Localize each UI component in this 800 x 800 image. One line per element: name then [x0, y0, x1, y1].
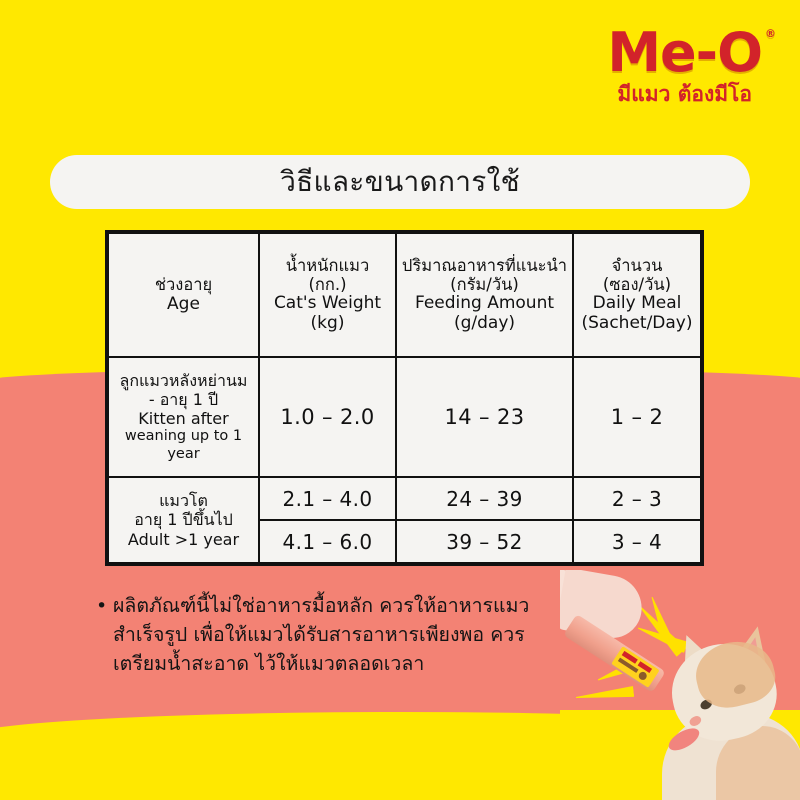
- cell-weight-kitten: 1.0 – 2.0: [259, 357, 396, 477]
- header-cell-weight: น้ำหนักแมว (กก.) Cat's Weight (kg): [259, 233, 396, 357]
- logo-wordmark-text: Me-O: [607, 21, 762, 84]
- usage-note: • ผลิตภัณฑ์นี้ไม่ใช่อาหารมื้อหลัก ควรให้…: [96, 592, 566, 679]
- table-row-adult-small: แมวโต อายุ 1 ปีขึ้นไป Adult >1 year 2.1 …: [108, 477, 701, 520]
- header-meals-th-unit: (ซอง/วัน): [577, 275, 697, 294]
- header-meals-en-unit: (Sachet/Day): [577, 314, 697, 334]
- usage-note-text: ผลิตภัณฑ์นี้ไม่ใช่อาหารมื้อหลัก ควรให้อา…: [113, 592, 566, 679]
- cell-meals-adult-small: 2 – 3: [573, 477, 701, 520]
- cell-meals-adult-large: 3 – 4: [573, 520, 701, 563]
- header-age-th: ช่วงอายุ: [112, 275, 255, 294]
- header-cell-meals: จำนวน (ซอง/วัน) Daily Meal (Sachet/Day): [573, 233, 701, 357]
- header-weight-en-unit: (kg): [263, 314, 392, 334]
- header-weight-en: Cat's Weight: [263, 294, 392, 314]
- cell-amount-kitten: 14 – 23: [396, 357, 573, 477]
- product-photo: [560, 570, 800, 800]
- cell-amount-adult-large: 39 – 52: [396, 520, 573, 563]
- registered-trademark-icon: ®: [765, 28, 775, 39]
- cell-weight-adult-small: 2.1 – 4.0: [259, 477, 396, 520]
- header-cell-age: ช่วงอายุ Age: [108, 233, 259, 357]
- header-meals-en: Daily Meal: [577, 294, 697, 314]
- bullet-icon: •: [96, 592, 107, 620]
- brand-logo: Me-O ® มีแมว ต้องมีโอ: [607, 26, 762, 105]
- cell-age-adult: แมวโต อายุ 1 ปีขึ้นไป Adult >1 year: [108, 477, 259, 563]
- header-weight-th: น้ำหนักแมว: [263, 256, 392, 275]
- brand-tagline: มีแมว ต้องมีโอ: [607, 84, 762, 105]
- header-meals-th: จำนวน: [577, 256, 697, 275]
- feeding-guide-table: ช่วงอายุ Age น้ำหนักแมว (กก.) Cat's Weig…: [107, 232, 702, 564]
- table-header-row: ช่วงอายุ Age น้ำหนักแมว (กก.) Cat's Weig…: [108, 233, 701, 357]
- table-row-kitten: ลูกแมวหลังหย่านม - อายุ 1 ปี Kitten afte…: [108, 357, 701, 477]
- adult-age-th2: อายุ 1 ปีขึ้นไป: [112, 510, 255, 529]
- header-amount-th: ปริมาณอาหารที่แนะนำ: [400, 256, 569, 275]
- kitten-age-en1: Kitten after: [112, 409, 255, 428]
- header-amount-en-unit: (g/day): [400, 314, 569, 334]
- label-mark: [637, 670, 648, 681]
- header-age-en: Age: [112, 295, 255, 315]
- cat-illustration: [656, 618, 800, 800]
- cell-weight-adult-large: 4.1 – 6.0: [259, 520, 396, 563]
- adult-age-th1: แมวโต: [112, 491, 255, 510]
- kitten-age-th1: ลูกแมวหลังหย่านม: [112, 371, 255, 390]
- kitten-age-en2: weaning up to 1 year: [112, 428, 255, 463]
- header-amount-th-unit: (กรัม/วัน): [400, 275, 569, 294]
- header-weight-th-unit: (กก.): [263, 275, 392, 294]
- cell-age-kitten: ลูกแมวหลังหย่านม - อายุ 1 ปี Kitten afte…: [108, 357, 259, 477]
- title-banner: วิธีและขนาดการใช้: [50, 155, 750, 209]
- header-cell-amount: ปริมาณอาหารที่แนะนำ (กรัม/วัน) Feeding A…: [396, 233, 573, 357]
- poster: Me-O ® มีแมว ต้องมีโอ วิธีและขนาดการใช้ …: [0, 0, 800, 800]
- logo-wordmark: Me-O ®: [607, 26, 762, 80]
- cell-meals-kitten: 1 – 2: [573, 357, 701, 477]
- cat-nose-icon: [688, 714, 703, 728]
- header-amount-en: Feeding Amount: [400, 294, 569, 314]
- cell-amount-adult-small: 24 – 39: [396, 477, 573, 520]
- adult-age-en1: Adult >1 year: [112, 530, 255, 549]
- kitten-age-th2: - อายุ 1 ปี: [112, 390, 255, 409]
- page-title: วิธีและขนาดการใช้: [280, 160, 520, 204]
